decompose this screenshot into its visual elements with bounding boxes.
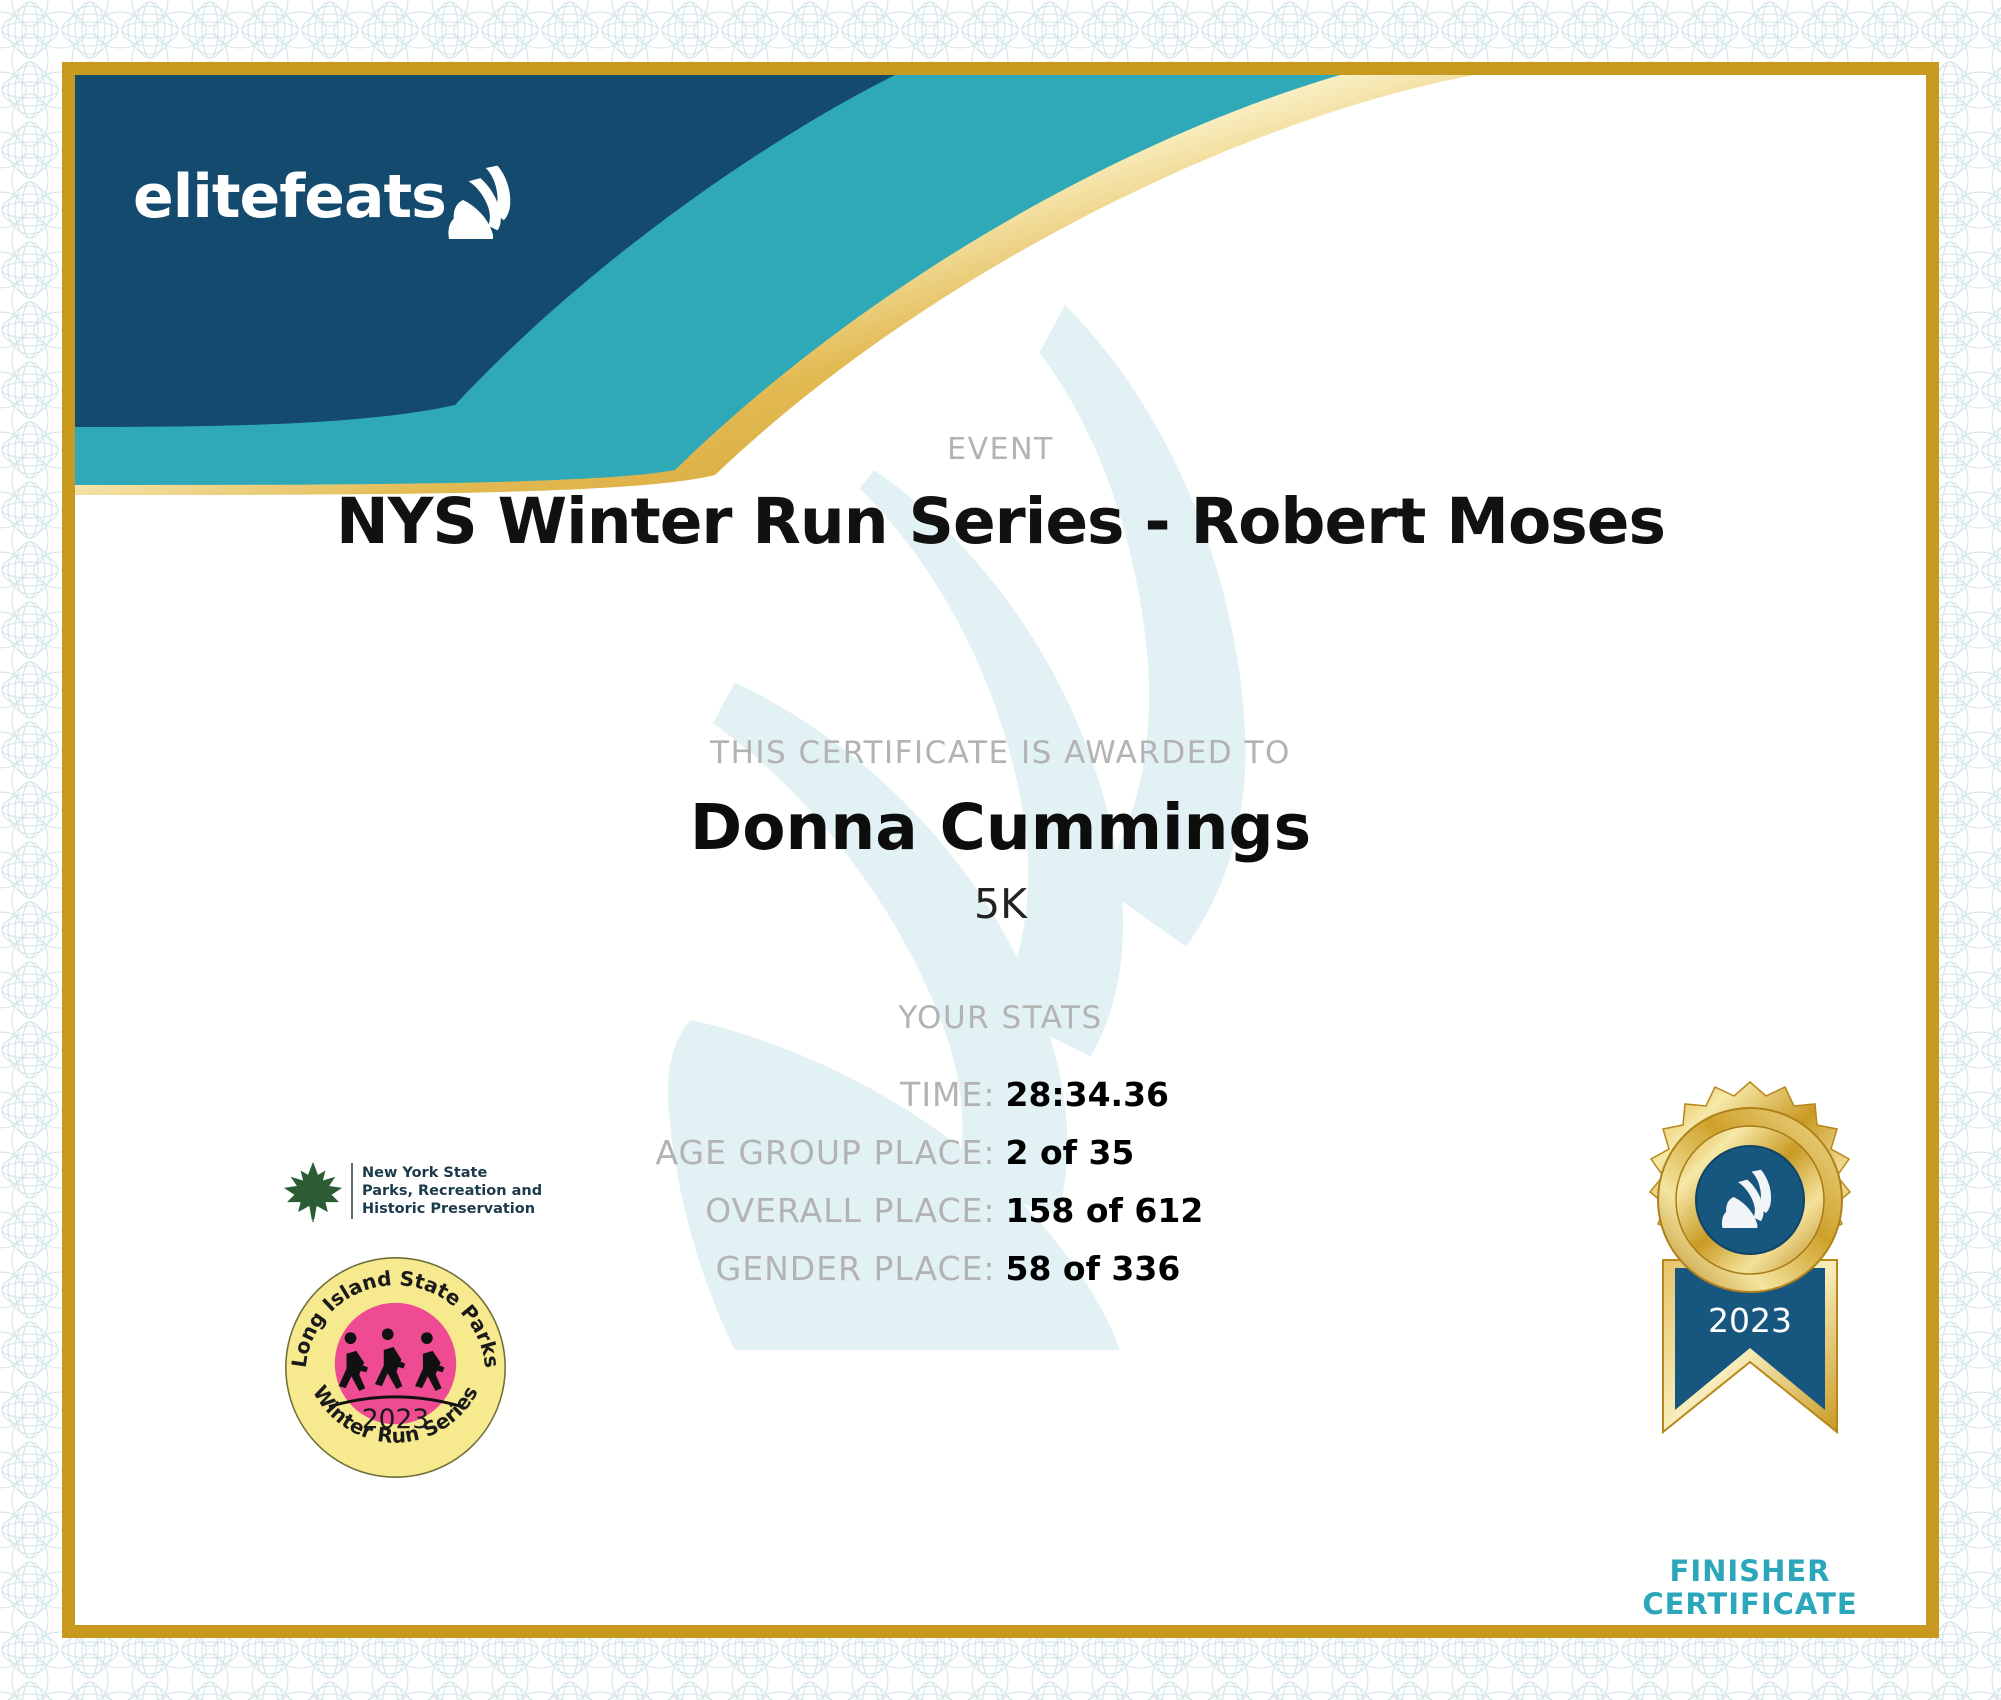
stat-value-age-group-place: 2 of 35 (1006, 1133, 1476, 1172)
race-distance: 5K (75, 880, 1926, 928)
nys-parks-logo: New York State Parks, Recreation and His… (280, 1160, 550, 1222)
nys-parks-text: New York State Parks, Recreation and His… (362, 1164, 542, 1219)
finisher-certificate-caption: FINISHER CERTIFICATE (1570, 1555, 1926, 1622)
certificate-body: elitefeats EVENT NYS Winter Run Series -… (75, 75, 1926, 1625)
stat-key-age-group-place: AGE GROUP PLACE: (526, 1133, 1006, 1172)
nys-line-1: New York State (362, 1164, 542, 1182)
stat-key-time: TIME: (526, 1075, 1006, 1114)
long-island-winter-run-series-badge: 2023 Long Island State Parks Winter Run … (278, 1250, 513, 1485)
recipient-name: Donna Cummings (75, 791, 1926, 864)
maple-leaf-icon (280, 1160, 346, 1222)
event-title: NYS Winter Run Series - Robert Moses (75, 485, 1926, 558)
stat-key-overall-place: OVERALL PLACE: (526, 1191, 1006, 1230)
event-label: EVENT (75, 432, 1926, 467)
finisher-caption-line-1: FINISHER (1570, 1555, 1926, 1588)
your-stats-label: YOUR STATS (75, 1000, 1926, 1036)
logo-divider (351, 1163, 353, 1219)
finisher-caption-line-2: CERTIFICATE (1570, 1588, 1926, 1621)
nys-line-3: Historic Preservation (362, 1200, 542, 1218)
nys-line-2: Parks, Recreation and (362, 1182, 542, 1200)
awarded-to-label: THIS CERTIFICATE IS AWARDED TO (75, 735, 1926, 771)
stat-value-overall-place: 158 of 612 (1006, 1191, 1476, 1230)
stat-value-gender-place: 58 of 336 (1006, 1249, 1476, 1288)
gold-border-frame: elitefeats EVENT NYS Winter Run Series -… (62, 62, 1939, 1638)
certificate-page: elitefeats EVENT NYS Winter Run Series -… (0, 0, 2001, 1700)
finisher-medal: 2023 (1585, 1080, 1915, 1500)
stat-key-gender-place: GENDER PLACE: (526, 1249, 1006, 1288)
medal-year: 2023 (1708, 1301, 1792, 1340)
stat-value-time: 28:34.36 (1006, 1075, 1476, 1114)
